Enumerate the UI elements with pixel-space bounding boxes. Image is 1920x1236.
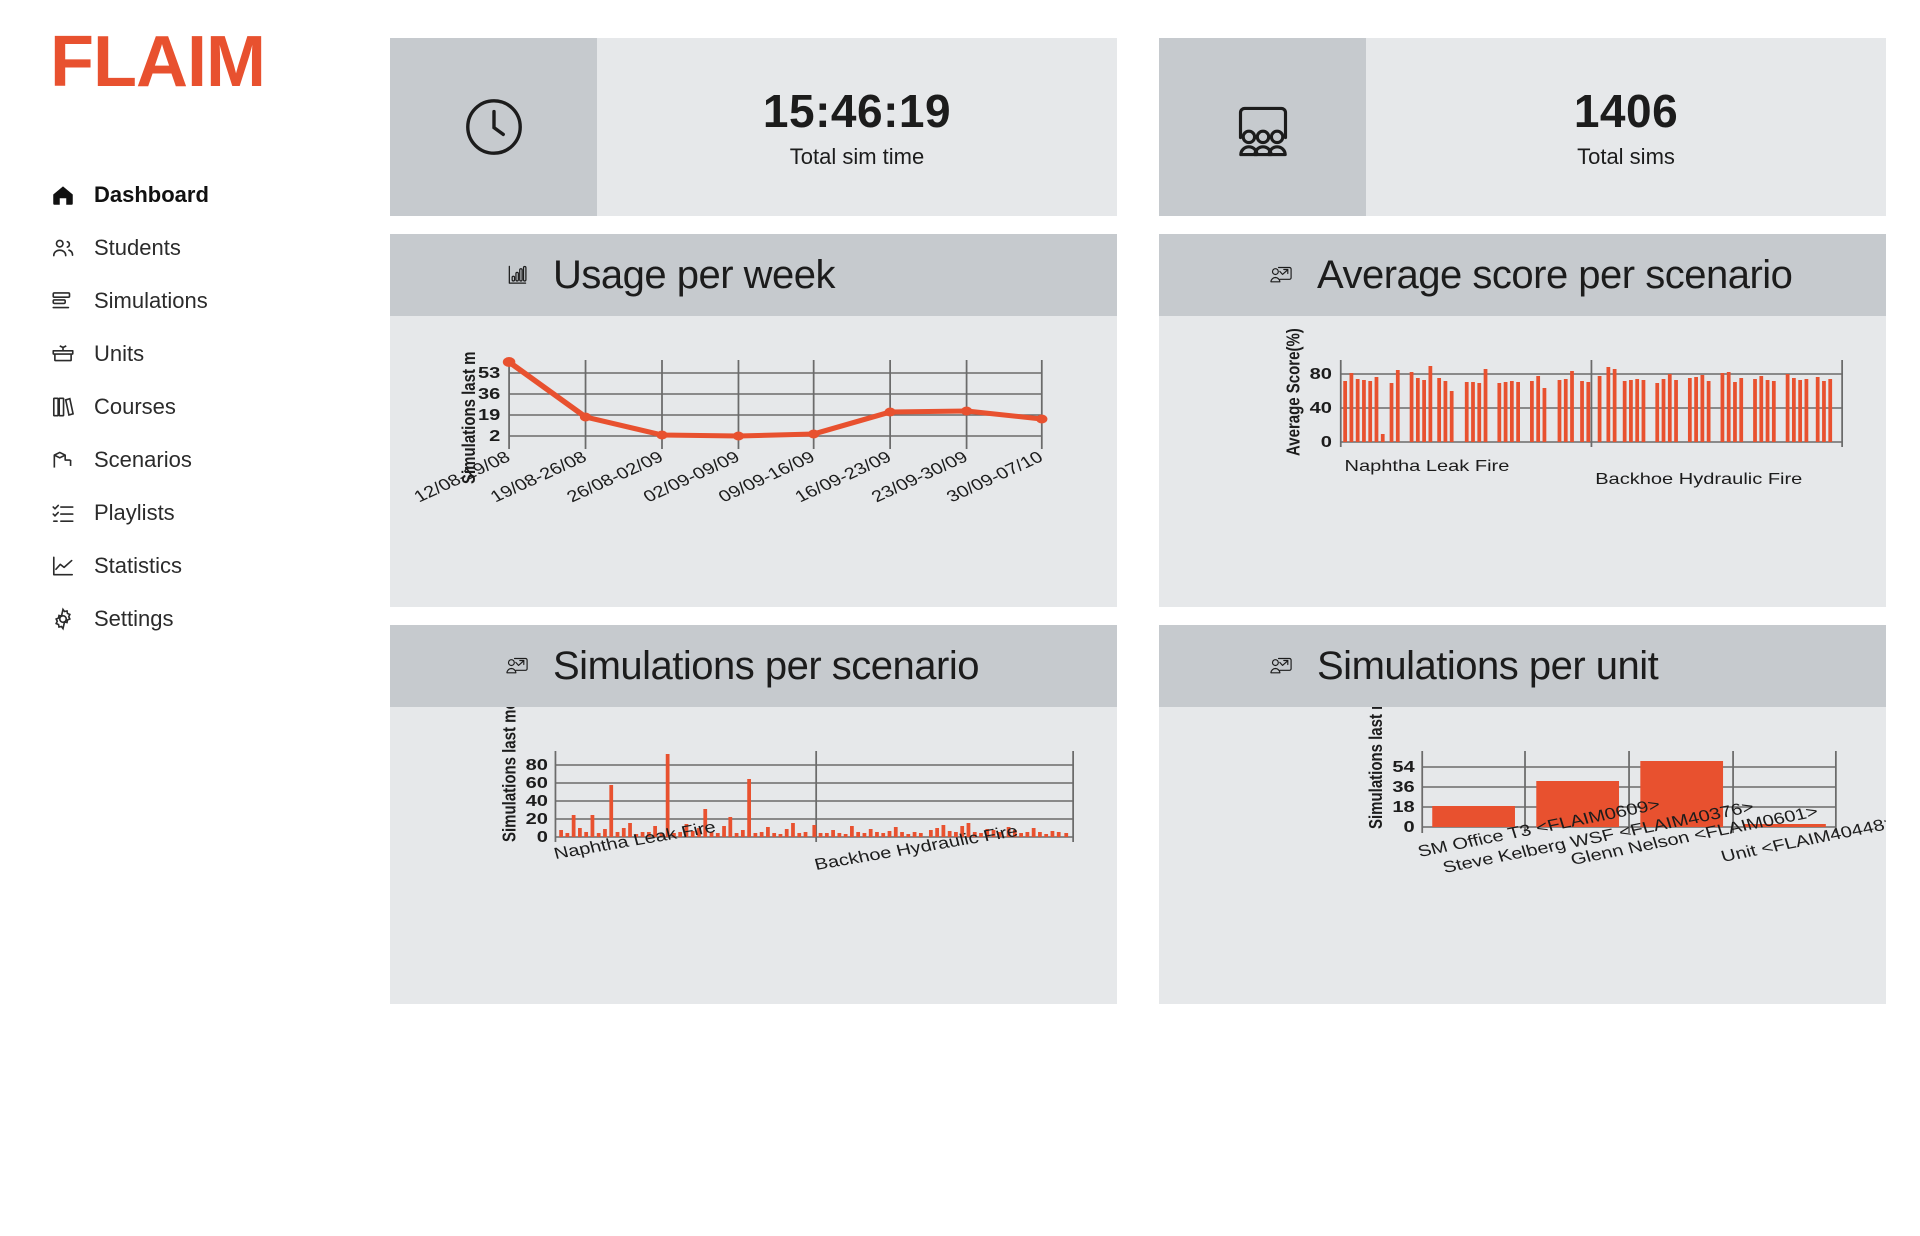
sidebar-item-courses[interactable]: Courses [50, 380, 390, 433]
home-icon [50, 182, 76, 208]
svg-text:18: 18 [1392, 798, 1414, 816]
sidebar-nav: Dashboard Students Simulations Units [50, 168, 390, 645]
svg-text:80: 80 [1310, 365, 1332, 383]
simulations-per-scenario-chart: Simulations last mon [390, 707, 1117, 1004]
sidebar-item-label: Simulations [94, 288, 208, 314]
svg-text:0: 0 [537, 828, 548, 846]
sidebar-item-label: Dashboard [94, 182, 209, 208]
card-title: Usage per week [553, 253, 835, 298]
y-ticks: 53 36 19 2 [478, 364, 500, 445]
sims-scenario-bars [559, 754, 1068, 837]
person-chart-icon [1269, 653, 1295, 679]
card-header: Average score per scenario [1159, 234, 1886, 316]
svg-text:53: 53 [478, 364, 500, 382]
stat-card-total-sim-time: 15:46:19 Total sim time [390, 38, 1117, 216]
courses-icon [50, 394, 76, 420]
sidebar-item-dashboard[interactable]: Dashboard [50, 168, 390, 221]
card-title: Simulations per scenario [553, 644, 979, 689]
svg-text:40: 40 [526, 792, 548, 810]
card-simulations-per-scenario: Simulations per scenario Simulations las… [390, 625, 1117, 1004]
svg-text:40: 40 [1310, 399, 1332, 417]
sidebar-item-statistics[interactable]: Statistics [50, 539, 390, 592]
card-average-score-per-scenario: Average score per scenario Average Score… [1159, 234, 1886, 607]
category-label: Backhoe Hydraulic Fire [1595, 470, 1802, 488]
svg-text:36: 36 [1392, 778, 1414, 796]
sidebar-item-label: Scenarios [94, 447, 192, 473]
card-header: Simulations per unit [1159, 625, 1886, 707]
stat-value: 1406 [1574, 84, 1678, 138]
y-axis-title: Simulations last m [1366, 707, 1387, 829]
dashboard-page: FLAIM Dashboard Students Simulations [0, 0, 1920, 1236]
card-simulations-per-unit: Simulations per unit Simulations last m [1159, 625, 1886, 1004]
y-axis-title: Average Score(%) [1283, 328, 1304, 456]
sidebar: FLAIM Dashboard Students Simulations [0, 0, 390, 1236]
main-content: 15:46:19 Total sim time [390, 0, 1920, 1236]
classroom-icon [1159, 38, 1366, 216]
y-ticks: 80 40 0 [1310, 365, 1332, 451]
y-ticks: 80 60 40 20 0 [526, 756, 548, 846]
settings-icon [50, 606, 76, 632]
students-icon [50, 235, 76, 261]
stat-label: Total sim time [790, 144, 924, 170]
sidebar-item-playlists[interactable]: Playlists [50, 486, 390, 539]
x-tick-labels: 12/08-19/08 19/08-26/08 26/08-02/09 02/0… [410, 448, 1046, 506]
sims-scenario-plot-svg: Simulations last mon [390, 707, 1117, 1004]
sidebar-item-scenarios[interactable]: Scenarios [50, 433, 390, 486]
card-header: Simulations per scenario [390, 625, 1117, 707]
avg-score-bars [1343, 366, 1832, 442]
units-icon [50, 341, 76, 367]
stats-row: 15:46:19 Total sim time [390, 38, 1886, 216]
charts-row-1: Usage per week Simulations last m [390, 234, 1886, 607]
card-header: Usage per week [390, 234, 1117, 316]
brand-logo: FLAIM [50, 26, 390, 98]
svg-text:36: 36 [478, 385, 500, 403]
statistics-icon [50, 553, 76, 579]
sidebar-item-label: Units [94, 341, 144, 367]
svg-text:20: 20 [526, 810, 548, 828]
bar-chart-icon [505, 262, 531, 288]
svg-text:0: 0 [1321, 433, 1332, 451]
charts-row-2: Simulations per scenario Simulations las… [390, 625, 1886, 1004]
card-title: Average score per scenario [1317, 253, 1792, 298]
avg-score-plot-svg: Average Score(%) 80 4 [1159, 316, 1886, 607]
y-ticks: 54 36 18 0 [1392, 758, 1414, 836]
sidebar-item-label: Statistics [94, 553, 182, 579]
sidebar-item-label: Settings [94, 606, 174, 632]
usage-plot-svg: Simulations last m [390, 316, 1117, 607]
y-axis-title: Simulations last mon [499, 707, 520, 842]
svg-text:19: 19 [478, 406, 500, 424]
stat-label: Total sims [1577, 144, 1675, 170]
sidebar-item-label: Playlists [94, 500, 175, 526]
simulations-per-unit-chart: Simulations last m [1159, 707, 1886, 1004]
category-label: Naphtha Leak Fire [1345, 457, 1510, 475]
svg-text:2: 2 [489, 427, 500, 445]
usage-per-week-chart: Simulations last m [390, 316, 1117, 607]
sidebar-item-units[interactable]: Units [50, 327, 390, 380]
simulations-icon [50, 288, 76, 314]
stat-card-total-sims: 1406 Total sims [1159, 38, 1886, 216]
stat-value: 15:46:19 [763, 84, 951, 138]
card-title: Simulations per unit [1317, 644, 1658, 689]
playlists-icon [50, 500, 76, 526]
svg-text:60: 60 [526, 774, 548, 792]
category-label: Naphtha Leak Fire [552, 818, 718, 863]
x-category-labels: Naphtha Leak Fire Backhoe Hydraulic Fire [1345, 457, 1803, 488]
scenarios-icon [50, 447, 76, 473]
x-category-labels: Naphtha Leak Fire Backhoe Hydraulic Fire [552, 818, 1020, 874]
category-label: Backhoe Hydraulic Fire [812, 822, 1019, 874]
svg-text:0: 0 [1404, 818, 1415, 836]
person-chart-icon [505, 653, 531, 679]
sidebar-item-label: Students [94, 235, 181, 261]
clock-icon [390, 38, 597, 216]
average-score-chart: Average Score(%) 80 4 [1159, 316, 1886, 607]
sidebar-item-students[interactable]: Students [50, 221, 390, 274]
person-chart-icon [1269, 262, 1295, 288]
sidebar-item-simulations[interactable]: Simulations [50, 274, 390, 327]
sidebar-item-settings[interactable]: Settings [50, 592, 390, 645]
sims-unit-plot-svg: Simulations last m [1159, 707, 1886, 1004]
svg-text:54: 54 [1392, 758, 1414, 776]
sidebar-item-label: Courses [94, 394, 176, 420]
svg-text:80: 80 [526, 756, 548, 774]
card-usage-per-week: Usage per week Simulations last m [390, 234, 1117, 607]
